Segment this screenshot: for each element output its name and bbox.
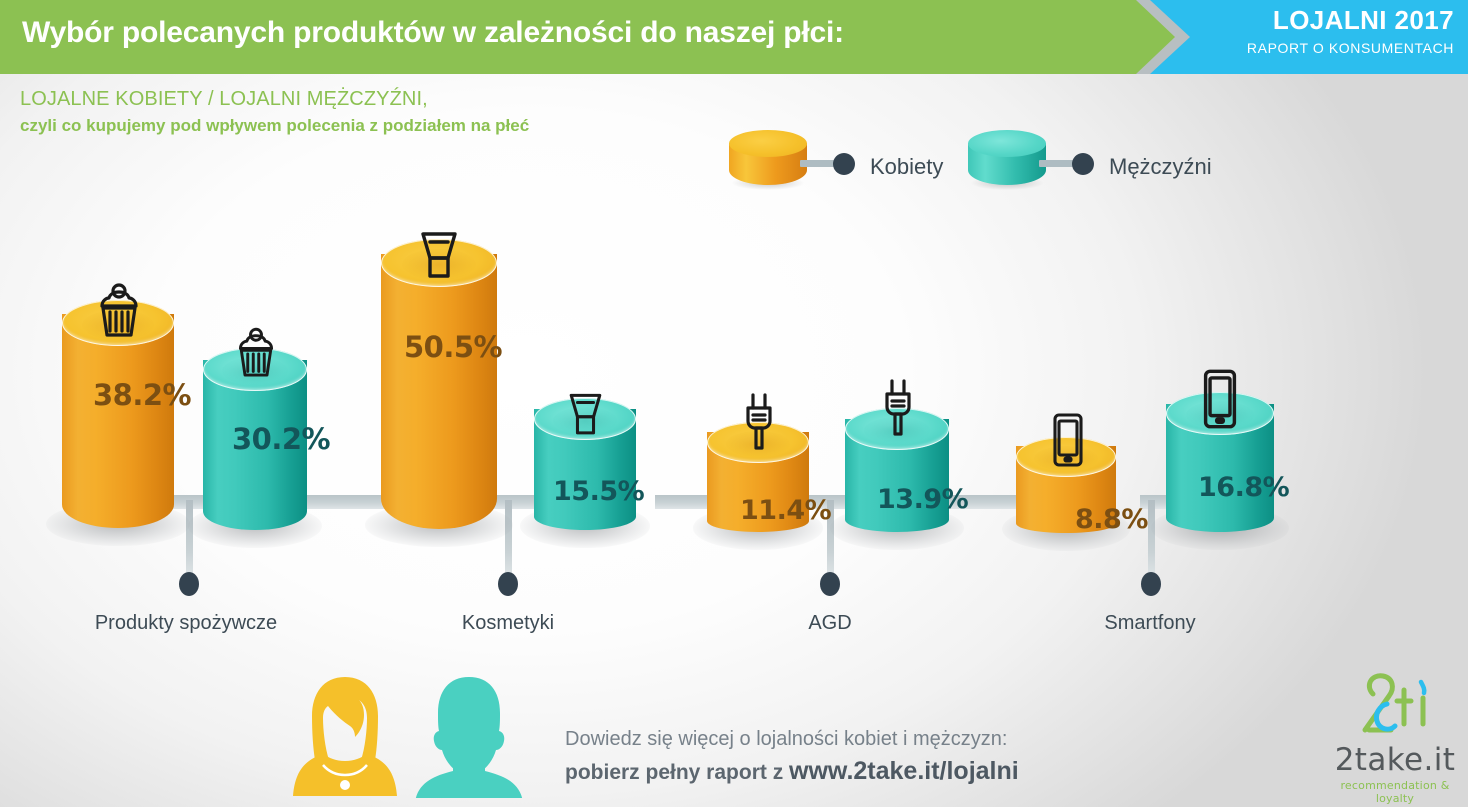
category-dot-4 [1141, 572, 1161, 596]
value-label-smartfony-mezczyzni: 16.8% [1198, 472, 1289, 503]
category-dot-1 [179, 572, 199, 596]
cupcake-icon [234, 327, 278, 381]
category-label-agd: AGD [680, 612, 980, 635]
value-label-agd-mezczyzni: 13.9% [877, 484, 968, 515]
cupcake-icon [95, 283, 143, 341]
value-label-kosmetyki-kobiety: 50.5% [404, 330, 502, 364]
category-connector-4 [1148, 500, 1155, 575]
footer-cta: Dowiedz się więcej o lojalności kobiet i… [565, 728, 1019, 786]
infographic-root: Wybór polecanych produktów w zależności … [0, 0, 1468, 807]
cosmetics-bottle-icon [563, 390, 608, 440]
category-dot-2 [498, 572, 518, 596]
value-label-produkty-kobiety: 38.2% [93, 378, 191, 412]
value-label-kosmetyki-mezczyzni: 15.5% [553, 476, 644, 507]
value-label-produkty-mezczyzni: 30.2% [232, 422, 330, 456]
cylinder-bar-chart: Produkty spożywcze Kosmetyki AGD Smartfo… [0, 0, 1468, 807]
value-label-agd-kobiety: 11.4% [740, 495, 831, 526]
plug-icon [880, 378, 916, 440]
cosmetics-bottle-icon [414, 228, 464, 284]
category-connector-2 [505, 500, 512, 575]
category-label-produkty-spozywcze: Produkty spożywcze [36, 612, 336, 635]
footer-line-2-prefix: pobierz pełny raport z [565, 761, 789, 784]
brand-logo[interactable]: 2take.it recommendation & loyalty [1330, 668, 1460, 805]
category-label-kosmetyki: Kosmetyki [358, 612, 658, 635]
footer-line-1: Dowiedz się więcej o lojalności kobiet i… [565, 728, 1019, 751]
woman-avatar-icon [290, 673, 400, 803]
footer-line-2: pobierz pełny raport z www.2take.it/loja… [565, 757, 1019, 786]
category-dot-3 [820, 572, 840, 596]
smartphone-icon [1052, 412, 1084, 468]
category-connector-1 [186, 500, 193, 575]
logo-tagline: recommendation & loyalty [1330, 779, 1460, 805]
logo-mark-icon [1349, 668, 1441, 742]
plug-icon [741, 392, 777, 454]
smartphone-icon [1202, 368, 1238, 430]
logo-wordmark: 2take.it [1330, 742, 1460, 778]
value-label-smartfony-kobiety: 8.8% [1075, 504, 1148, 535]
man-avatar-icon [412, 673, 527, 803]
report-url-link[interactable]: www.2take.it/lojalni [789, 757, 1019, 785]
category-label-smartfony: Smartfony [1000, 612, 1300, 635]
